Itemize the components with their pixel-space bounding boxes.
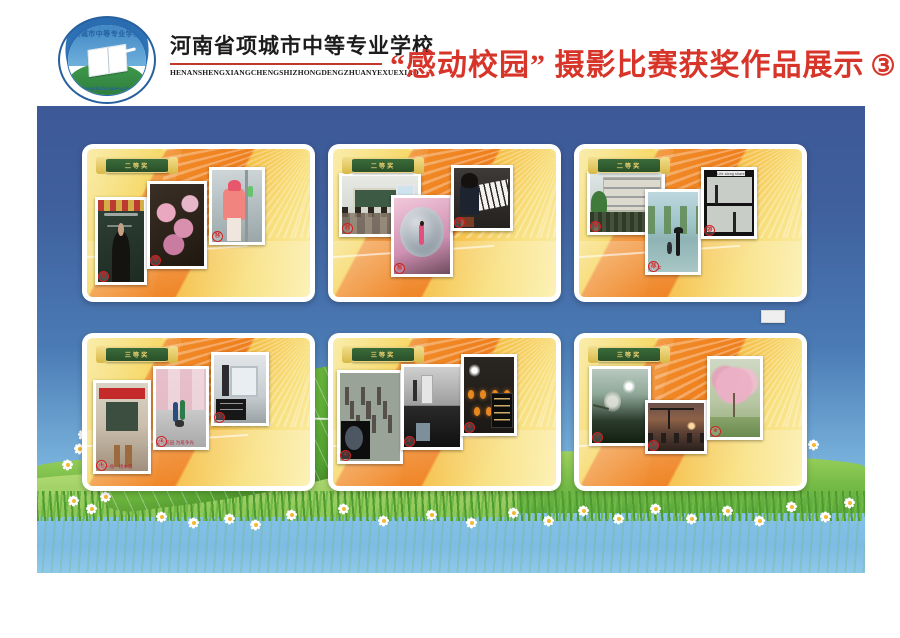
photo-number-badge: ⑱ (590, 221, 601, 232)
panel-2[interactable]: 二等奖⑮⑯⑰ (328, 144, 561, 302)
photo-number-badge: ② (156, 436, 167, 447)
photo-number-badge: ⑳ (704, 225, 715, 236)
photo-art-play (156, 369, 206, 447)
daisy-flower-icon (67, 494, 80, 507)
photo-number-badge: ⑤ (404, 436, 415, 447)
daisy-flower-icon (465, 516, 478, 529)
photo-overlay-label: Life along share (717, 171, 745, 176)
photo-image (98, 200, 144, 282)
photo-image (404, 367, 460, 447)
photo-art-hall (404, 367, 460, 447)
daisy-flower-icon (753, 514, 766, 527)
photo-card[interactable]: ④ (337, 370, 403, 464)
photo-card[interactable]: ⑤ (401, 364, 463, 450)
photo-art-rain (648, 192, 698, 272)
panel-background: 二等奖⑫⑬⑭ (87, 149, 310, 297)
daisy-flower-icon (612, 512, 625, 525)
photo-card[interactable]: ⑭ (209, 167, 265, 245)
daisy-flower-icon (649, 502, 662, 515)
poster-canvas: 项城市中等专业学校 xiangchengshizhongdengzhuanyex… (0, 0, 900, 638)
award-ribbon: 三等奖 (348, 347, 418, 362)
photo-number-badge: ⑲ (648, 261, 659, 272)
panel-background: 三等奖班级一角 · 杨本霞①美化校园 为班争光②③ (87, 338, 310, 486)
panel-1[interactable]: 二等奖⑫⑬⑭ (82, 144, 315, 302)
daisy-flower-icon (187, 516, 200, 529)
photo-card[interactable]: ⑨ (707, 356, 763, 440)
daisy-flower-icon (155, 510, 168, 523)
display-board: 二等奖⑫⑬⑭二等奖⑮⑯⑰二等奖⑱刘险女⑲Life along share⑳三等奖… (37, 98, 865, 573)
photo-card[interactable]: ③ (211, 352, 269, 426)
photo-card[interactable]: ⑦ (589, 366, 651, 446)
school-name-cn: 河南省项城市中等专业学校 (170, 30, 385, 60)
photo-number-badge: ① (96, 460, 107, 471)
daisy-flower-icon (785, 500, 798, 513)
daisy-flower-icon (337, 502, 350, 515)
photo-decor-banner (98, 200, 144, 211)
daisy-flower-icon (85, 502, 98, 515)
photo-card[interactable]: 班级一角 · 杨本霞① (93, 380, 151, 474)
award-ribbon-label: 三等奖 (125, 350, 150, 359)
panel-background: 二等奖⑮⑯⑰ (333, 149, 556, 297)
award-ribbon-label: 二等奖 (617, 161, 642, 170)
photo-number-badge: ⑯ (394, 263, 405, 274)
photo-number-badge: ⑨ (710, 426, 721, 437)
award-ribbon-label: 三等奖 (371, 350, 396, 359)
panel-background: 二等奖⑱刘险女⑲Life along share⑳ (579, 149, 802, 297)
award-ribbon: 三等奖 (594, 347, 664, 362)
photo-number-badge: ⑥ (464, 422, 475, 433)
panel-5[interactable]: 三等奖④⑤⑥ (328, 333, 561, 491)
photo-number-badge: ⑮ (342, 223, 353, 234)
photo-card[interactable]: 美化校园 为班争光② (153, 366, 209, 450)
school-name-block: 河南省项城市中等专业学校 HENANSHENGXIANGCHENGSHIZHON… (170, 30, 385, 77)
award-ribbon: 二等奖 (102, 158, 172, 173)
photo-image (156, 369, 206, 447)
photo-number-badge: ④ (340, 450, 351, 461)
daisy-flower-icon (577, 504, 590, 517)
photo-image (710, 359, 760, 437)
award-ribbon-label: 三等奖 (617, 350, 642, 359)
photo-image (150, 184, 204, 266)
page-title-text: “感动校园” 摄影比赛获奖作品展示 (390, 49, 865, 82)
school-logo-inner: 项城市中等专业学校 xiangchengshizhongdengzhuanyex… (67, 24, 147, 96)
photo-art-crowd (340, 373, 400, 461)
daisy-flower-icon (99, 490, 112, 503)
logo-arc-top-text: 项城市中等专业学校 (68, 31, 146, 38)
panel-3[interactable]: 二等奖⑱刘险女⑲Life along share⑳ (574, 144, 807, 302)
photo-card[interactable]: 刘险女⑲ (645, 189, 701, 275)
panel-background: 三等奖⑦⑧⑨ (579, 338, 802, 486)
photo-card[interactable]: ⑰ (451, 165, 513, 231)
photo-image (340, 373, 400, 461)
daisy-flower-icon (685, 512, 698, 525)
daisy-flower-icon (807, 438, 820, 451)
award-ribbon: 二等奖 (594, 158, 664, 173)
photo-art-leaves (150, 184, 204, 266)
photo-number-badge: ⑦ (592, 432, 603, 443)
daisy-flower-icon (285, 508, 298, 521)
logo-arc-bottom-text: xiangchengshizhongdengzhuanyexuexiao (68, 87, 146, 91)
daisy-flower-icon (843, 496, 856, 509)
panel-background: 三等奖④⑤⑥ (333, 338, 556, 486)
daisy-flower-icon (819, 510, 832, 523)
photo-image (394, 198, 450, 274)
photo-number-badge: ⑭ (212, 231, 223, 242)
daisy-flower-icon (61, 458, 74, 471)
page-title-number: ③ (871, 51, 897, 82)
photo-art-room (96, 383, 148, 471)
photo-card[interactable]: ⑧ (645, 400, 707, 454)
school-name-rule (170, 63, 382, 65)
daisy-flower-icon (249, 518, 262, 531)
daisy-flower-icon (507, 506, 520, 519)
daisy-flower-icon (425, 508, 438, 521)
photo-number-badge: ⑧ (648, 440, 659, 451)
photo-image (648, 192, 698, 272)
school-logo-seal: 项城市中等专业学校 xiangchengshizhongdengzhuanyex… (58, 16, 156, 104)
award-ribbon: 二等奖 (348, 158, 418, 173)
photo-art-blackboard (98, 200, 144, 282)
daisy-flower-icon (223, 512, 236, 525)
school-name-pinyin: HENANSHENGXIANGCHENGSHIZHONGDENGZHUANYEX… (170, 68, 385, 77)
poster-header: 项城市中等专业学校 xiangchengshizhongdengzhuanyex… (0, 0, 900, 106)
daisy-flower-icon (377, 514, 390, 527)
photo-art-blossom (710, 359, 760, 437)
photo-number-badge: ⑰ (454, 217, 465, 228)
photo-art-circle (394, 198, 450, 274)
photo-number-badge: ⑬ (150, 255, 161, 266)
award-ribbon-label: 二等奖 (371, 161, 396, 170)
award-ribbon: 三等奖 (102, 347, 172, 362)
daisy-flower-icon (542, 514, 555, 527)
photo-number-badge: ③ (214, 412, 225, 423)
daisy-flower-icon (721, 504, 734, 517)
photo-image (96, 383, 148, 471)
photo-number-badge: ⑫ (98, 271, 109, 282)
panel-6[interactable]: 三等奖⑦⑧⑨ (574, 333, 807, 491)
photo-card[interactable]: ⑥ (461, 354, 517, 436)
photo-card[interactable]: ⑬ (147, 181, 207, 269)
photo-card[interactable]: ⑫ (95, 197, 147, 285)
photo-card[interactable]: Life along share⑳ (701, 167, 757, 239)
panel-4[interactable]: 三等奖班级一角 · 杨本霞①美化校园 为班争光②③ (82, 333, 315, 491)
white-building-shape (761, 310, 785, 323)
award-ribbon-label: 二等奖 (125, 161, 150, 170)
photo-card[interactable]: ⑯ (391, 195, 453, 277)
page-title: “感动校园” 摄影比赛获奖作品展示③ (390, 40, 897, 84)
